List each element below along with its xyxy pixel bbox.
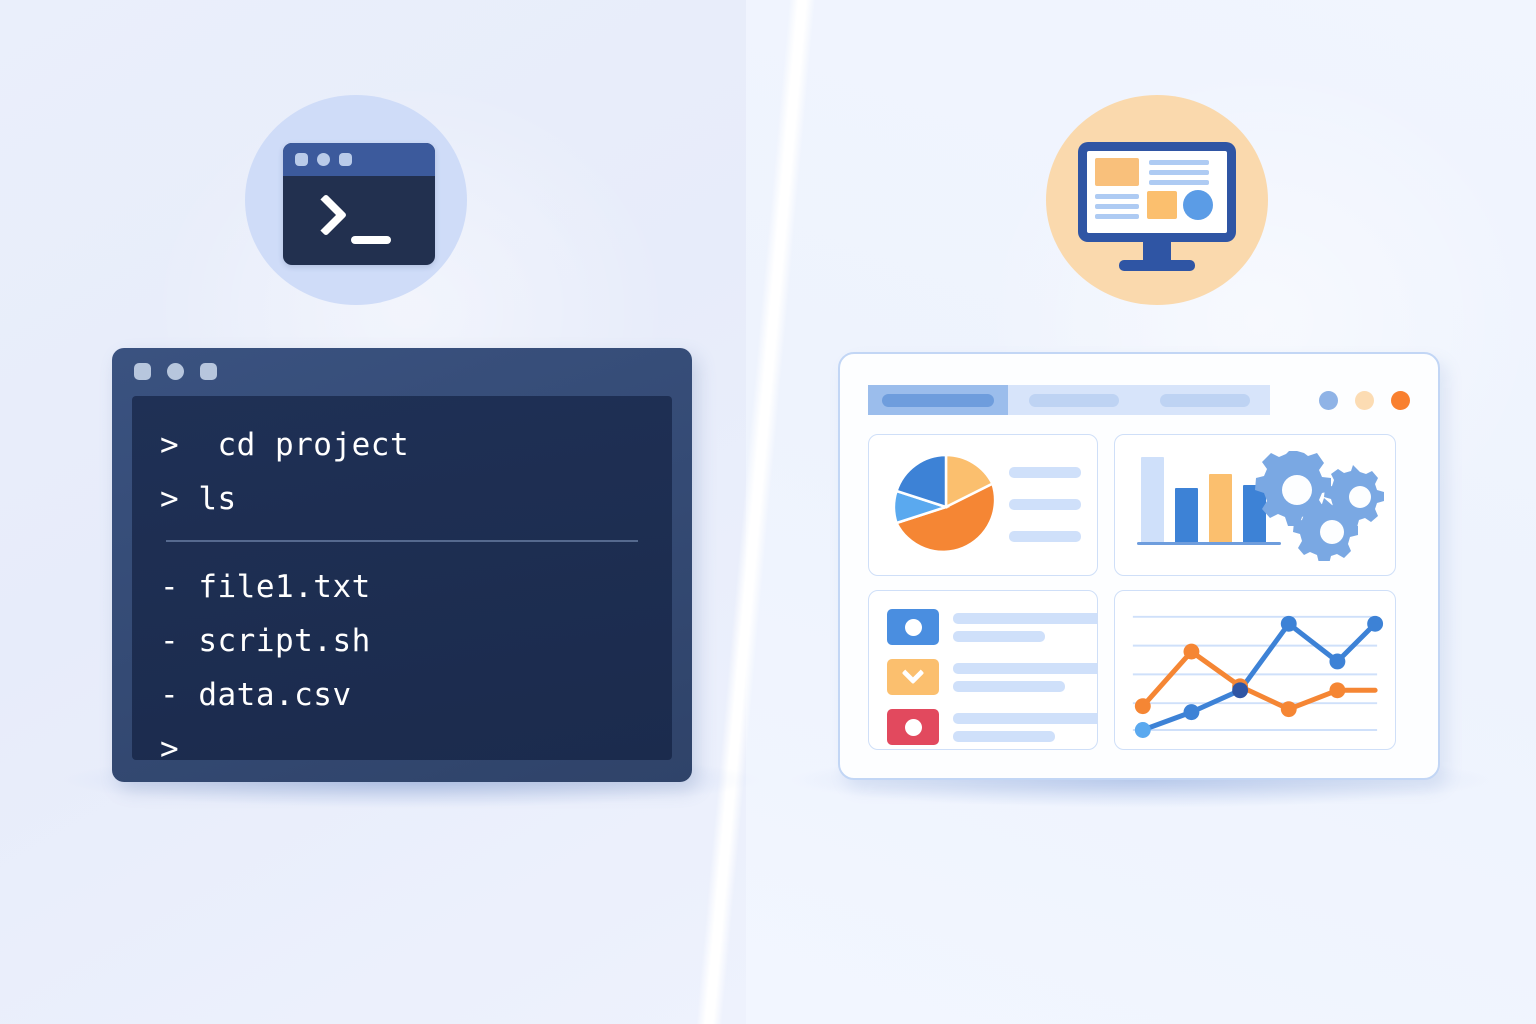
terminal-window-icon: [283, 143, 435, 265]
monitor-square-widget-icon: [1147, 191, 1177, 219]
window-dot-circle[interactable]: [167, 363, 184, 380]
bar-1: [1141, 457, 1164, 543]
status-list: [887, 609, 1098, 745]
bar-chart-settings-card[interactable]: [1114, 434, 1396, 576]
terminal-titlebar: [112, 348, 692, 394]
pie-chart: [891, 452, 1001, 562]
line-chart: [1115, 591, 1395, 750]
monitor-circle-widget-icon: [1183, 190, 1213, 220]
list-line: [953, 631, 1045, 642]
monitor-text-line-icon: [1149, 180, 1209, 185]
tab-1-label-placeholder: [882, 394, 994, 407]
bar-chart: [1141, 457, 1266, 543]
terminal-screen[interactable]: > cd project > ls - file1.txt - script.s…: [132, 396, 672, 760]
tab-2[interactable]: [1008, 385, 1139, 415]
window-dot-peach[interactable]: [1355, 391, 1374, 410]
terminal-output-file-2: - script.sh: [160, 614, 644, 668]
list-badge-circle-red: [887, 709, 939, 745]
monitor-text-line-icon: [1095, 214, 1139, 219]
window-dot-square-1[interactable]: [134, 363, 151, 380]
pie-chart-legend: [1009, 467, 1081, 542]
circle-icon: [905, 619, 922, 636]
list-line: [953, 613, 1098, 624]
terminal-active-prompt[interactable]: >: [160, 722, 644, 760]
tab-3-label-placeholder: [1160, 394, 1250, 407]
terminal-output-file-1: - file1.txt: [160, 560, 644, 614]
line-chart-card[interactable]: [1114, 590, 1396, 750]
window-dot-orange[interactable]: [1391, 391, 1410, 410]
window-dot-blue[interactable]: [1319, 391, 1338, 410]
list-item[interactable]: [887, 609, 1098, 645]
terminal-icon-dot-square-1: [295, 153, 308, 166]
terminal-icon-dot-circle: [317, 153, 330, 166]
chevron-down-icon: [902, 662, 925, 685]
dashboard-window[interactable]: [838, 352, 1440, 780]
prompt-symbol: >: [160, 722, 179, 760]
legend-entry: [1009, 467, 1081, 478]
legend-entry: [1009, 531, 1081, 542]
settings-gears-icon: [1253, 449, 1385, 561]
list-line: [953, 681, 1065, 692]
monitor-text-line-icon: [1095, 194, 1139, 199]
terminal-icon-titlebar: [283, 143, 435, 176]
bar-3: [1209, 474, 1232, 543]
dashboard-window-controls: [1319, 391, 1410, 410]
terminal-separator-rule: [166, 540, 638, 542]
pie-chart-card[interactable]: [868, 434, 1098, 576]
list-item-text-placeholder: [953, 613, 1098, 642]
monitor-text-line-icon: [1149, 170, 1209, 175]
underscore-icon: [351, 236, 391, 244]
tab-1-active[interactable]: [868, 385, 1008, 415]
terminal-command-line-1: > cd project: [160, 418, 644, 472]
chevron-right-icon: [305, 194, 347, 236]
terminal-icon-body: [283, 176, 435, 265]
circle-icon: [905, 719, 922, 736]
monitor-stand-base: [1119, 260, 1195, 271]
monitor-chart-block-icon: [1095, 158, 1139, 186]
monitor-stand-neck: [1143, 242, 1171, 260]
terminal-command-line-2: > ls: [160, 472, 644, 526]
dashboard-toolbar: [868, 384, 1410, 416]
list-item-text-placeholder: [953, 713, 1098, 742]
list-line: [953, 731, 1055, 742]
list-item[interactable]: [887, 659, 1098, 695]
terminal-output-file-3: - data.csv: [160, 668, 644, 722]
terminal-icon-dot-square-2: [339, 153, 352, 166]
status-list-card[interactable]: [868, 590, 1098, 750]
tab-2-label-placeholder: [1029, 394, 1119, 407]
list-line: [953, 713, 1098, 724]
terminal-window[interactable]: > cd project > ls - file1.txt - script.s…: [112, 348, 692, 782]
desktop-monitor-icon: [1078, 142, 1236, 270]
window-dot-square-2[interactable]: [200, 363, 217, 380]
monitor-screen: [1087, 151, 1227, 233]
list-item[interactable]: [887, 709, 1098, 745]
list-line: [953, 663, 1098, 674]
monitor-frame: [1078, 142, 1236, 242]
list-item-text-placeholder: [953, 663, 1098, 692]
monitor-text-line-icon: [1095, 204, 1139, 209]
monitor-text-line-icon: [1149, 160, 1209, 165]
line-series-blue: [1143, 624, 1375, 730]
tab-3[interactable]: [1139, 385, 1270, 415]
list-badge-circle-blue: [887, 609, 939, 645]
scene-root: > cd project > ls - file1.txt - script.s…: [0, 0, 1536, 1024]
legend-entry: [1009, 499, 1081, 510]
pointing-hand-cursor-icon: [185, 738, 209, 760]
dashboard-card-grid: [868, 434, 1410, 750]
bar-2: [1175, 488, 1198, 543]
list-badge-chevron-amber: [887, 659, 939, 695]
